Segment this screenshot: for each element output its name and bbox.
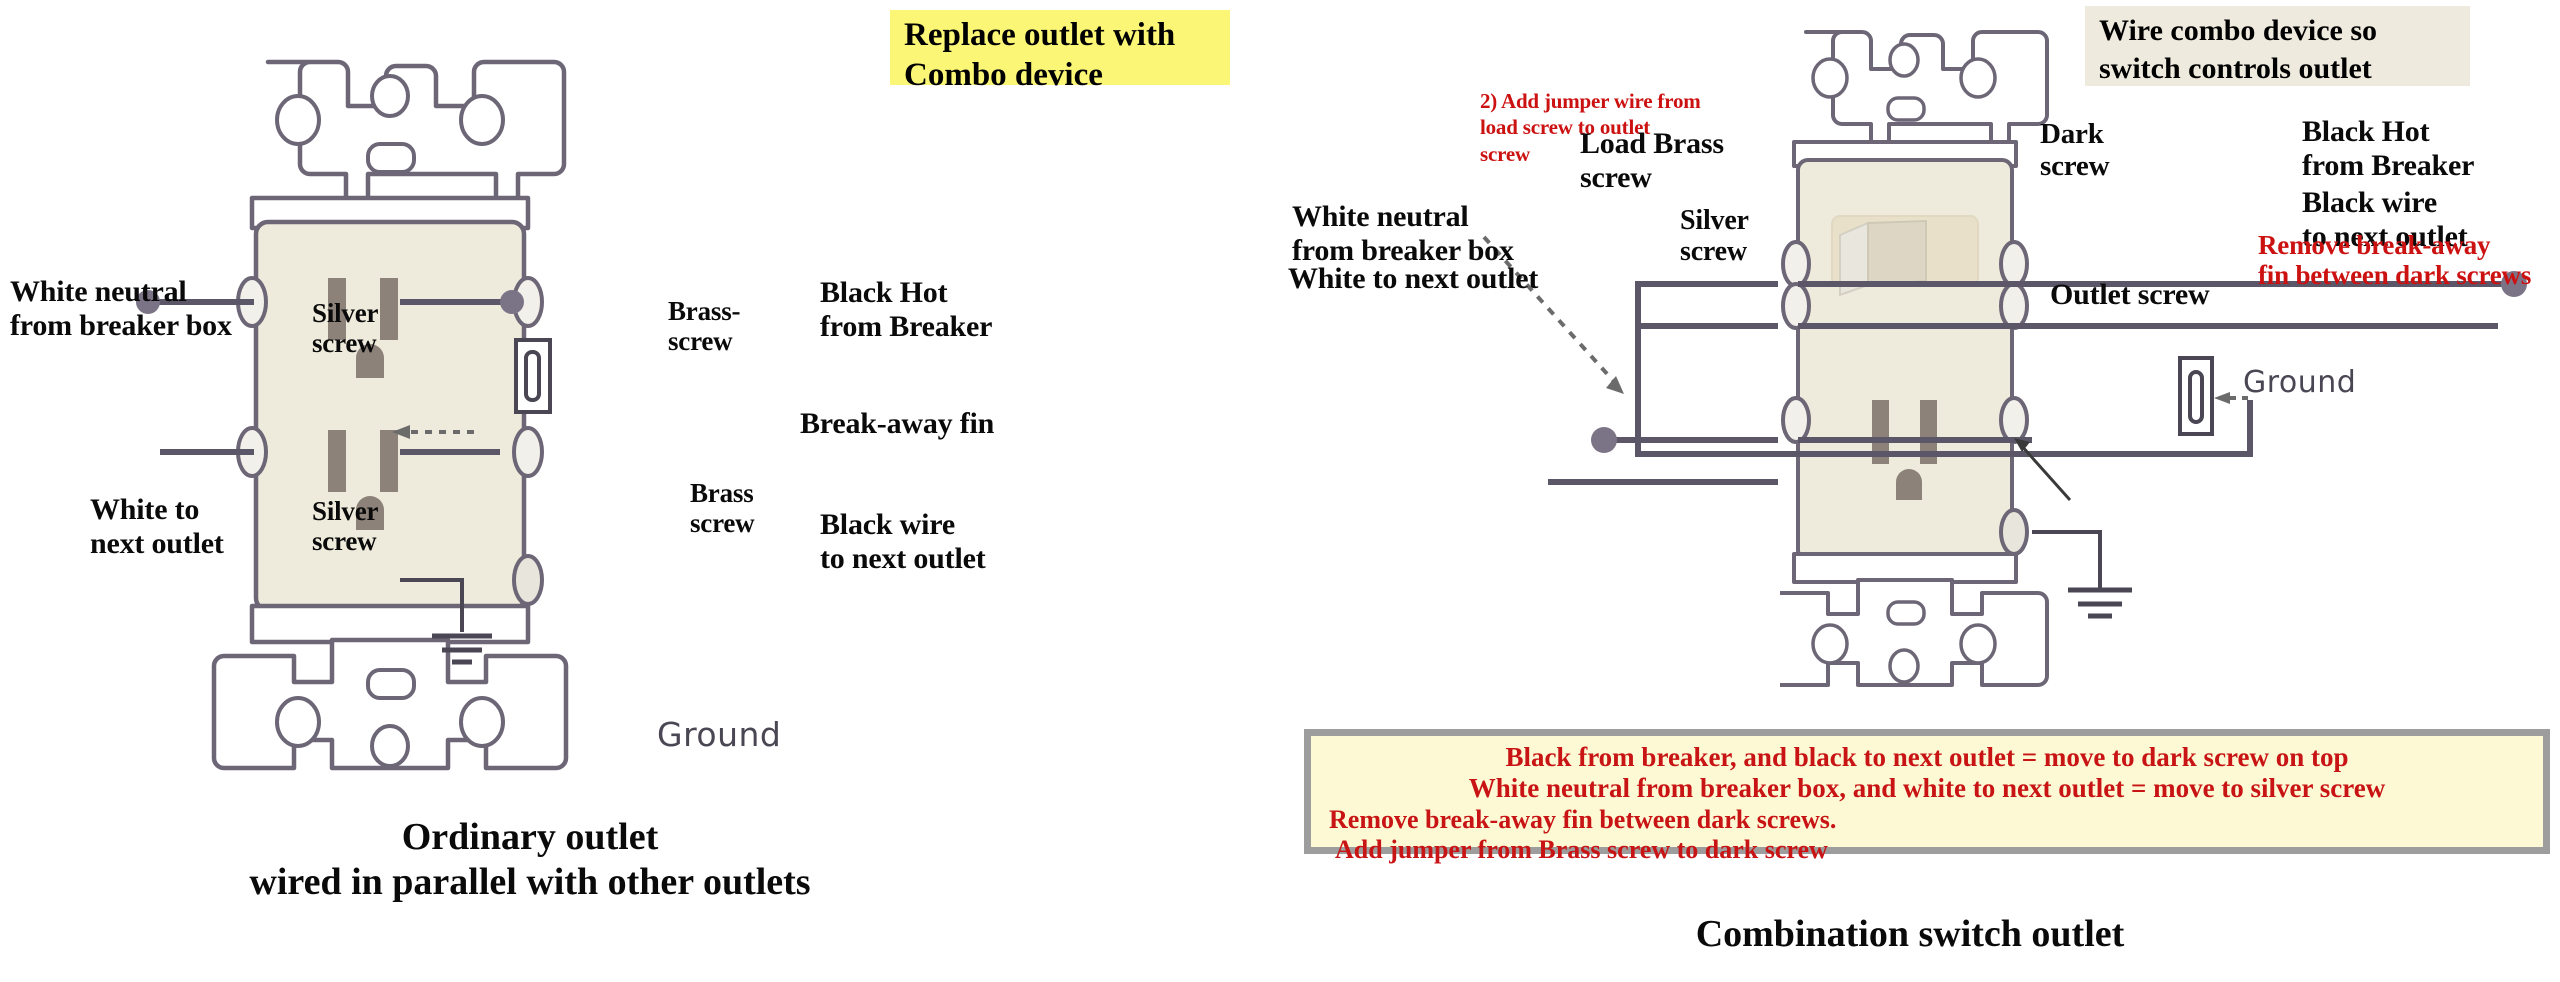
label-silver-screw-bottom: Silver screw (312, 496, 378, 556)
ground-symbol (2068, 590, 2132, 616)
label-outlet-screw: Outlet screw (2050, 278, 2210, 312)
label-white-neutral: White neutral from breaker box (1292, 200, 1514, 267)
right-caption: Combination switch outlet (1460, 912, 2360, 957)
label-ground: Ground (2243, 365, 2356, 400)
break-away-fin-pointer (392, 425, 474, 439)
left-diagram-panel: Replace outlet with Combo device (0, 0, 1280, 982)
label-brass-screw-top: Brass- screw (668, 296, 740, 356)
instruction-line: Black from breaker, and black to next ou… (1321, 742, 2533, 773)
label-white-next: White to next outlet (90, 493, 224, 560)
left-caption: Ordinary outlet wired in parallel with o… (0, 815, 1060, 905)
label-ground: Ground (657, 715, 781, 754)
wire-ground (2032, 532, 2100, 588)
label-load-brass-screw: Load Brass screw (1580, 127, 1724, 194)
ground-symbol (432, 636, 492, 662)
label-black-hot: Black Hot from Breaker (2302, 115, 2474, 182)
wire-ground (400, 580, 462, 632)
label-black-next: Black wire to next outlet (820, 508, 986, 575)
label-white-next: White to next outlet (1288, 262, 1538, 296)
right-diagram-panel: Wire combo device so switch controls out… (1280, 0, 2560, 982)
wire-end-cap (1591, 427, 1617, 453)
instruction-line: Remove break-away fin between dark screw… (1321, 805, 2533, 835)
label-silver-screw: Silver screw (1680, 205, 1749, 268)
instruction-line: White neutral from breaker box, and whit… (1321, 773, 2533, 804)
wiring-diagram-page: Replace outlet with Combo device (0, 0, 2560, 982)
wire-end-cap (500, 290, 524, 314)
label-silver-screw-top: Silver screw (312, 298, 378, 358)
outlet-screw-pointer (2014, 438, 2070, 500)
label-white-neutral: White neutral from breaker box (10, 275, 232, 342)
instruction-box: Black from breaker, and black to next ou… (1304, 729, 2550, 854)
label-brass-screw-bottom: Brass screw (690, 478, 754, 538)
label-break-away-fin: Break-away fin (800, 407, 994, 441)
instruction-line: Add jumper from Brass screw to dark scre… (1321, 835, 2533, 865)
label-black-hot: Black Hot from Breaker (820, 276, 992, 343)
break-away-fin (2180, 358, 2212, 434)
label-dark-screw: Dark screw (2040, 118, 2109, 183)
label-remove-fin: Remove break-away fin between dark screw… (2258, 230, 2531, 290)
